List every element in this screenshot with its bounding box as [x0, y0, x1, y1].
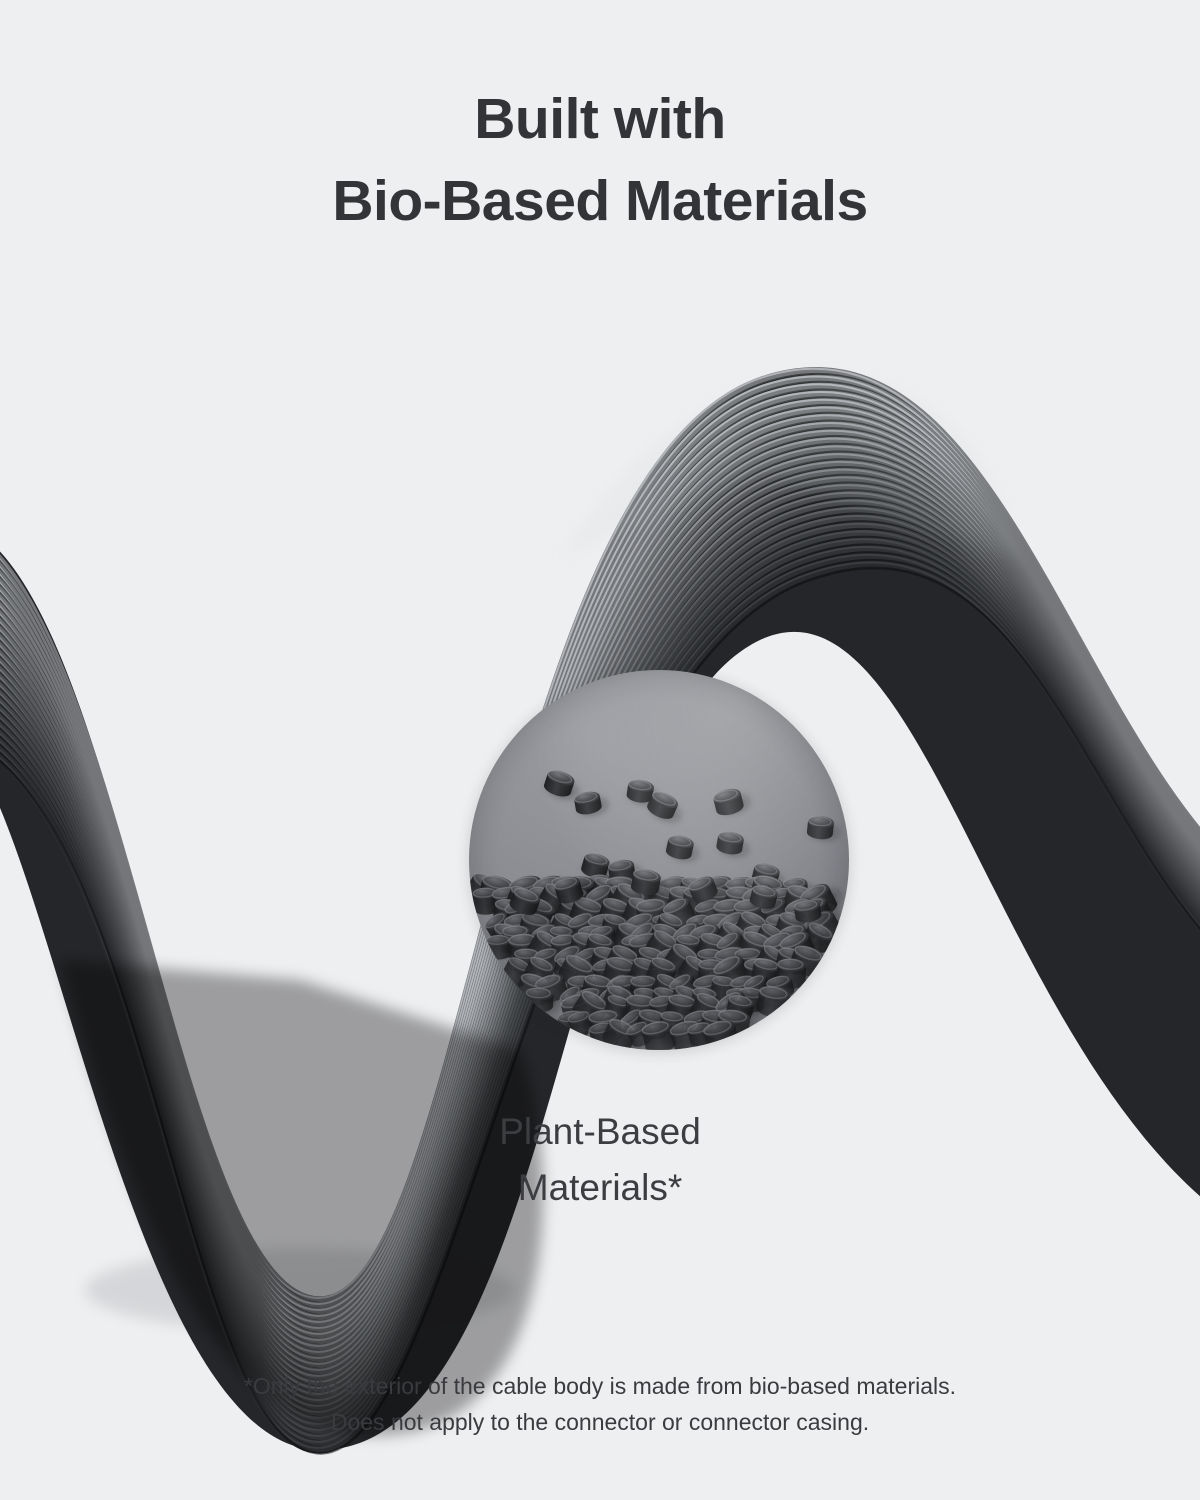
page-title: Built with Bio-Based Materials [0, 78, 1200, 242]
caption-line-2: Materials* [0, 1160, 1200, 1216]
magnified-pellets-circle-icon [469, 670, 849, 1050]
headline-line-1: Built with [0, 78, 1200, 160]
inset-caption: Plant-Based Materials* [0, 1104, 1200, 1216]
footnote-line-2: Does not apply to the connector or conne… [0, 1404, 1200, 1440]
caption-line-1: Plant-Based [0, 1104, 1200, 1160]
footnote-disclaimer: *Only the exterior of the cable body is … [0, 1368, 1200, 1440]
headline-line-2: Bio-Based Materials [0, 160, 1200, 242]
footnote-line-1: *Only the exterior of the cable body is … [0, 1368, 1200, 1404]
bio-based-materials-banner: Built with Bio-Based Materials Plant-Bas… [0, 0, 1200, 1500]
